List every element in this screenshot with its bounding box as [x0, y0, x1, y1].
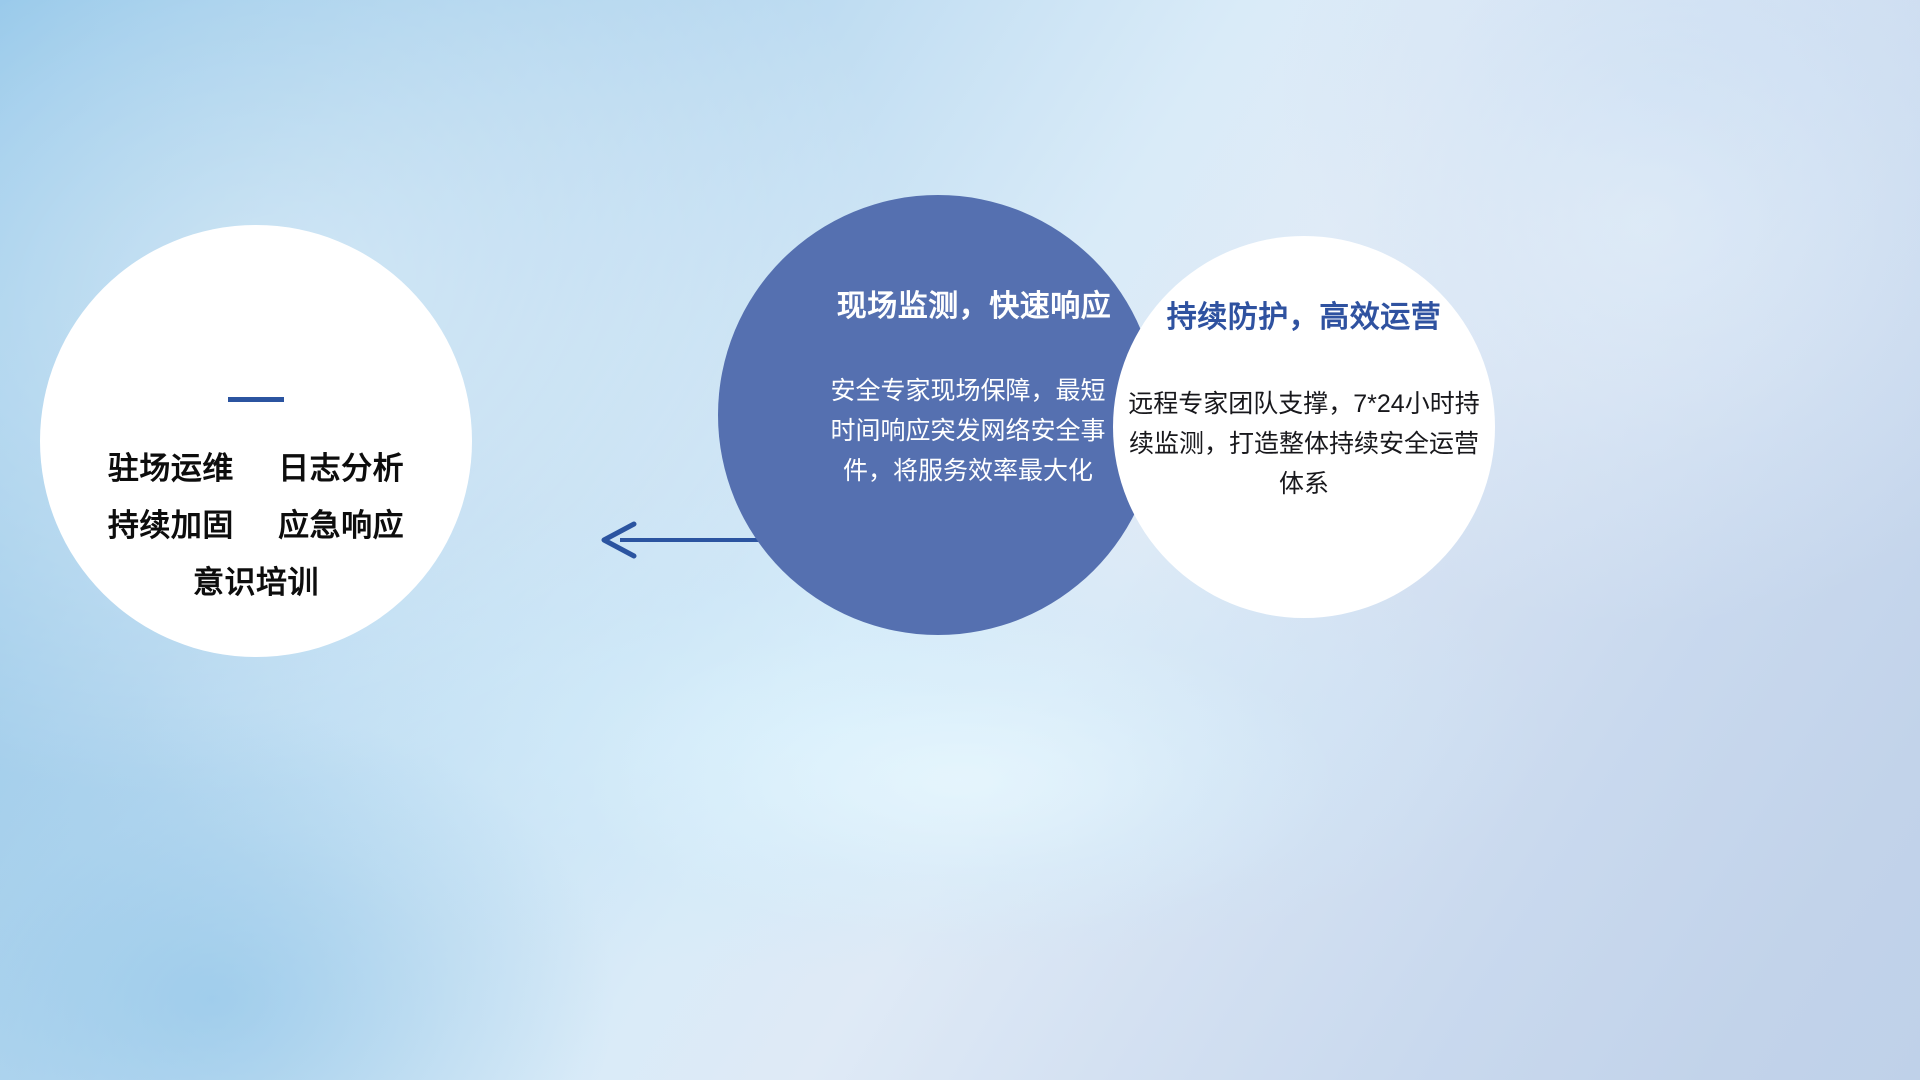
- slide-canvas: 现场监测，快速响应 安全专家现场保障，最短时间响应突发网络安全事件，将服务效率最…: [0, 0, 1920, 1080]
- left-circle-divider: [228, 397, 284, 402]
- list-item: 驻场运维 日志分析: [108, 440, 404, 497]
- list-item: 意识培训: [108, 554, 404, 611]
- mid-circle-title: 现场监测，快速响应: [837, 287, 1112, 327]
- right-circle-body: 远程专家团队支撑，7*24小时持续监测，打造整体持续安全运营体系: [1128, 384, 1480, 504]
- left-circle-keyword-list: 驻场运维 日志分析 持续加固 应急响应 意识培训: [108, 440, 404, 611]
- mid-circle-card[interactable]: 现场监测，快速响应 安全专家现场保障，最短时间响应突发网络安全事件，将服务效率最…: [718, 195, 1158, 635]
- keyword: 驻场运维: [108, 451, 234, 486]
- keyword: 应急响应: [278, 508, 404, 543]
- keyword: 意识培训: [193, 565, 319, 600]
- right-circle-title: 持续防护，高效运营: [1167, 298, 1442, 338]
- keyword: 日志分析: [278, 451, 404, 486]
- right-circle-card[interactable]: 持续防护，高效运营 远程专家团队支撑，7*24小时持续监测，打造整体持续安全运营…: [1113, 236, 1495, 618]
- left-circle-card[interactable]: 驻场运维 日志分析 持续加固 应急响应 意识培训: [40, 225, 472, 657]
- mid-circle-body: 安全专家现场保障，最短时间响应突发网络安全事件，将服务效率最大化: [823, 371, 1113, 491]
- keyword: 持续加固: [108, 508, 234, 543]
- list-item: 持续加固 应急响应: [108, 497, 404, 554]
